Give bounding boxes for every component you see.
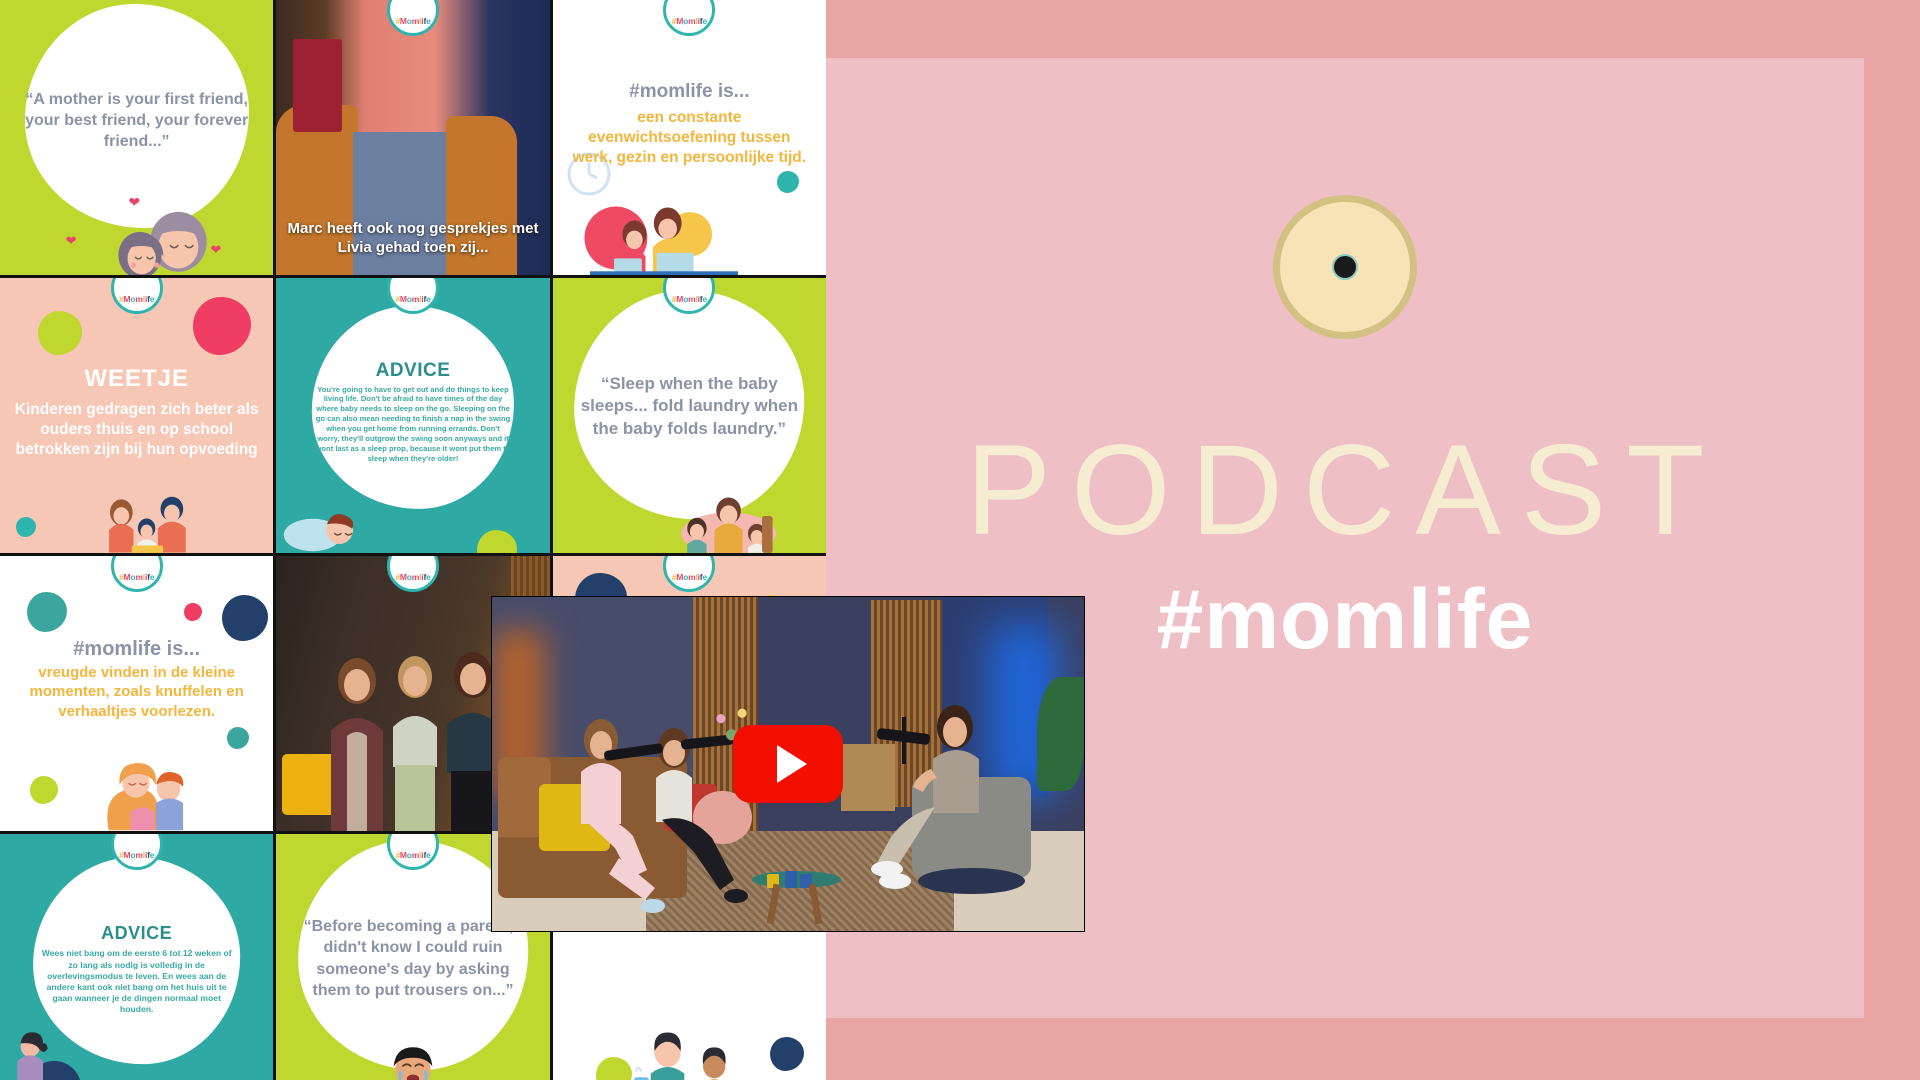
advice-body: You're going to have to get out and do t… [314, 385, 511, 464]
momlife-badge: #Momlife [663, 556, 715, 592]
momlife-is-body: een constante evenwichtsoefening tussen … [567, 108, 812, 167]
paint-dot [777, 171, 799, 193]
mother-child-tea-illustration [619, 1025, 759, 1080]
screenshot-root: “A mother is your first friend, your bes… [0, 0, 1920, 1080]
weetje-heading: WEETJE [14, 365, 259, 393]
tile-quote-mother-friend[interactable]: “A mother is your first friend, your bes… [0, 0, 273, 275]
three-women-figures [315, 641, 515, 831]
tile-photo-caption: Marc heeft ook nog gesprekjes met Livia … [276, 220, 549, 257]
paint-dot [27, 592, 67, 632]
heart-icon: ❤ [210, 242, 221, 258]
paint-dot [16, 517, 36, 537]
advice-heading: ADVICE [36, 923, 237, 944]
walking-woman-illustration [0, 1029, 91, 1080]
tile-text-block: #momlife is... vreugde vinden in de klei… [0, 638, 273, 721]
mother-hugging-child-illustration [85, 757, 203, 831]
mother-two-children-illustration [666, 493, 798, 553]
momlife-badge: #Momlife [111, 278, 163, 314]
tile-advice-overlevingsmodus[interactable]: ADVICE Wees niet bang om de eerste 6 tot… [0, 834, 273, 1080]
crying-child-illustration [369, 1047, 457, 1080]
youtube-video-player[interactable] [491, 596, 1085, 932]
paint-dot [477, 530, 517, 554]
tile-momlife-is-balans[interactable]: #momlife is... een constante evenwichtso… [553, 0, 826, 275]
tile-text-block: ADVICE Wees niet bang om de eerste 6 tot… [0, 923, 273, 1015]
tile-photo-marc-livia[interactable]: Marc heeft ook nog gesprekjes met Livia … [276, 0, 549, 275]
paint-dot [38, 311, 82, 355]
tile-quote-sleep-when-baby-sleeps[interactable]: “Sleep when the baby sleeps... fold laun… [553, 278, 826, 553]
mother-child-illustration [80, 197, 230, 275]
play-triangle [777, 745, 807, 783]
paint-dot [222, 595, 268, 641]
paint-dot [770, 1037, 804, 1071]
paint-dot [227, 727, 249, 749]
weetje-body: Kinderen gedragen zich beter als ouders … [14, 400, 259, 460]
momlife-is-heading: #momlife is... [567, 81, 812, 103]
youtube-play-icon[interactable] [733, 725, 843, 803]
tile-momlife-is-vreugde[interactable]: #momlife is... vreugde vinden in de klei… [0, 556, 273, 831]
tile-advice-sleep-on-the-go[interactable]: ADVICE You're going to have to get out a… [276, 278, 549, 553]
sleeping-baby-illustration [282, 499, 390, 553]
family-three-illustration [88, 491, 210, 553]
tile-text-block: ADVICE You're going to have to get out a… [276, 360, 549, 464]
tile-weetje-betrokken[interactable]: WEETJE Kinderen gedragen zich beter als … [0, 278, 273, 553]
page-subtitle: #momlife [1157, 577, 1534, 661]
momlife-badge: #Momlife [663, 0, 715, 36]
advice-body: Wees niet bang om de eerste 6 tot 12 wek… [36, 948, 237, 1015]
paint-dot [184, 603, 202, 621]
vinyl-hole [1332, 254, 1358, 280]
book-shape [293, 39, 342, 133]
tile-quote-text: “Sleep when the baby sleeps... fold laun… [553, 373, 826, 440]
advice-heading: ADVICE [314, 360, 511, 382]
page-title: PODCAST [966, 427, 1725, 555]
momlife-badge: #Momlife [111, 556, 163, 592]
heart-icon: ❤ [128, 194, 140, 211]
paint-dot [30, 776, 58, 804]
paint-dot [193, 297, 251, 355]
heart-icon: ❤ [66, 233, 77, 249]
family-laptop-illustration [569, 201, 759, 275]
momlife-is-body: vreugde vinden in de kleine momenten, zo… [8, 663, 265, 721]
tile-text-block: #momlife is... een constante evenwichtso… [553, 81, 826, 167]
tile-text-block: WEETJE Kinderen gedragen zich beter als … [0, 365, 273, 460]
momlife-is-heading: #momlife is... [8, 638, 265, 661]
tile-quote-text: “A mother is your first friend, your bes… [0, 89, 273, 152]
vinyl-record-icon [1273, 195, 1417, 339]
